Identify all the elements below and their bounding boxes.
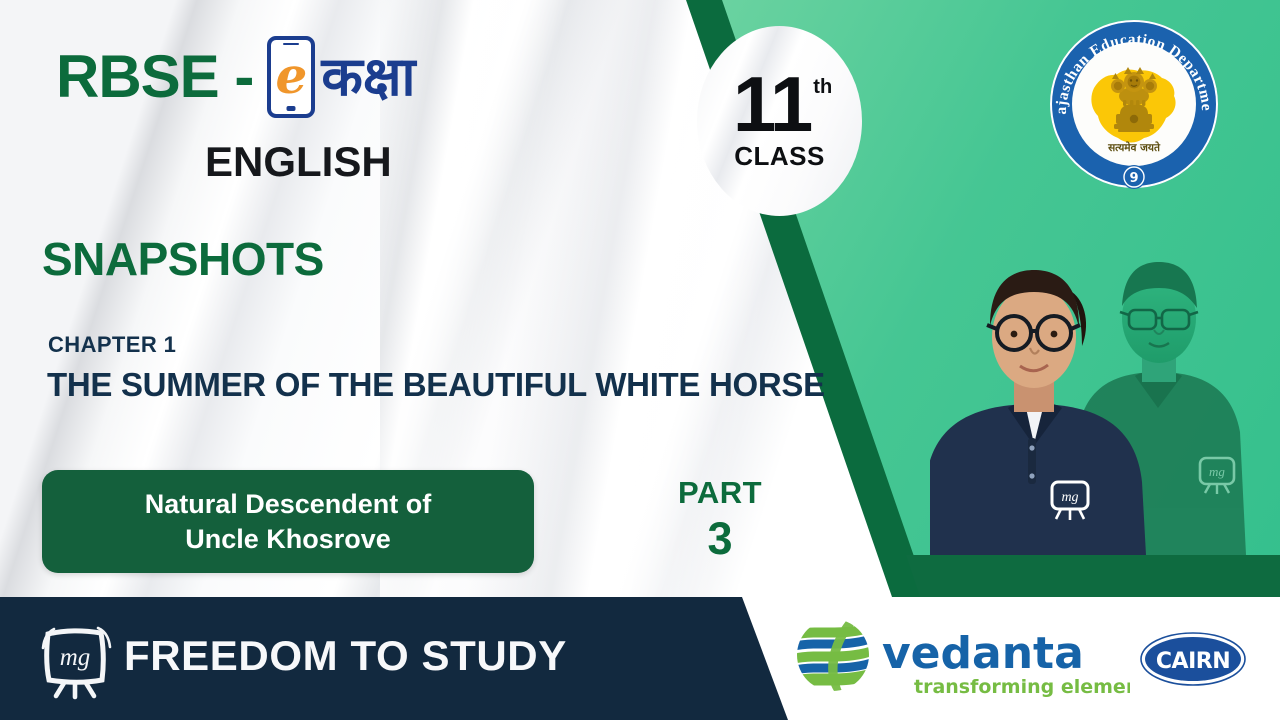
- vedanta-wordmark: vedanta: [882, 628, 1084, 679]
- thumbnail-canvas: RBSE - e कक्षा ENGLISH SNAPSHOTS CHAPTER…: [0, 0, 1280, 720]
- rajasthan-education-department-logo: Rajasthan Education Department: [1046, 16, 1222, 192]
- class-number: 11: [733, 70, 811, 139]
- mg-brand-logo: mg: [34, 620, 116, 700]
- part-label: PART: [600, 475, 840, 511]
- class-word-label: CLASS: [734, 141, 825, 172]
- board-logo-row: RBSE - e कक्षा: [56, 36, 416, 118]
- instructor-photos: mg: [930, 230, 1280, 555]
- part-number: 3: [600, 513, 840, 565]
- smartphone-icon: e: [267, 36, 315, 118]
- e-letter: e: [275, 51, 307, 101]
- footer-tagline: FREEDOM TO STUDY: [124, 632, 567, 680]
- svg-text:9: 9: [1129, 171, 1138, 186]
- chapter-label: CHAPTER 1: [48, 332, 176, 358]
- chapter-title: THE SUMMER OF THE BEAUTIFUL WHITE HORSE: [47, 366, 827, 404]
- svg-text:mg: mg: [1061, 490, 1078, 505]
- topic-badge: Natural Descendent of Uncle Khosrove: [42, 470, 534, 573]
- topic-badge-line-2: Uncle Khosrove: [145, 522, 432, 557]
- class-badge: 11 th CLASS: [697, 26, 862, 216]
- svg-text:mg: mg: [1209, 464, 1225, 479]
- book-title: SNAPSHOTS: [42, 232, 324, 286]
- ekaksha-logo: e कक्षा: [267, 36, 415, 118]
- topic-badge-text: Natural Descendent of Uncle Khosrove: [145, 487, 432, 556]
- logo-motto: सत्यमेव जयते: [1107, 141, 1161, 154]
- board-name: RBSE -: [56, 47, 253, 107]
- class-ordinal-suffix: th: [813, 76, 832, 99]
- class-number-group: 11 th: [733, 70, 832, 139]
- cairn-logo: CAIRN: [1140, 631, 1246, 687]
- vedanta-logo: vedanta transforming elements: [790, 613, 1130, 705]
- part-indicator: PART 3: [600, 475, 840, 565]
- cairn-wordmark: CAIRN: [1156, 649, 1230, 674]
- vedanta-globe-icon: [797, 619, 869, 691]
- vedanta-tagline: transforming elements: [914, 676, 1130, 698]
- kaksha-hindi-text: कक्षा: [321, 50, 415, 104]
- title-content-column: RBSE - e कक्षा ENGLISH SNAPSHOTS CHAPTER…: [0, 0, 712, 597]
- subject-label: ENGLISH: [205, 138, 392, 186]
- topic-badge-line-1: Natural Descendent of: [145, 487, 432, 522]
- mg-monogram: mg: [60, 644, 91, 671]
